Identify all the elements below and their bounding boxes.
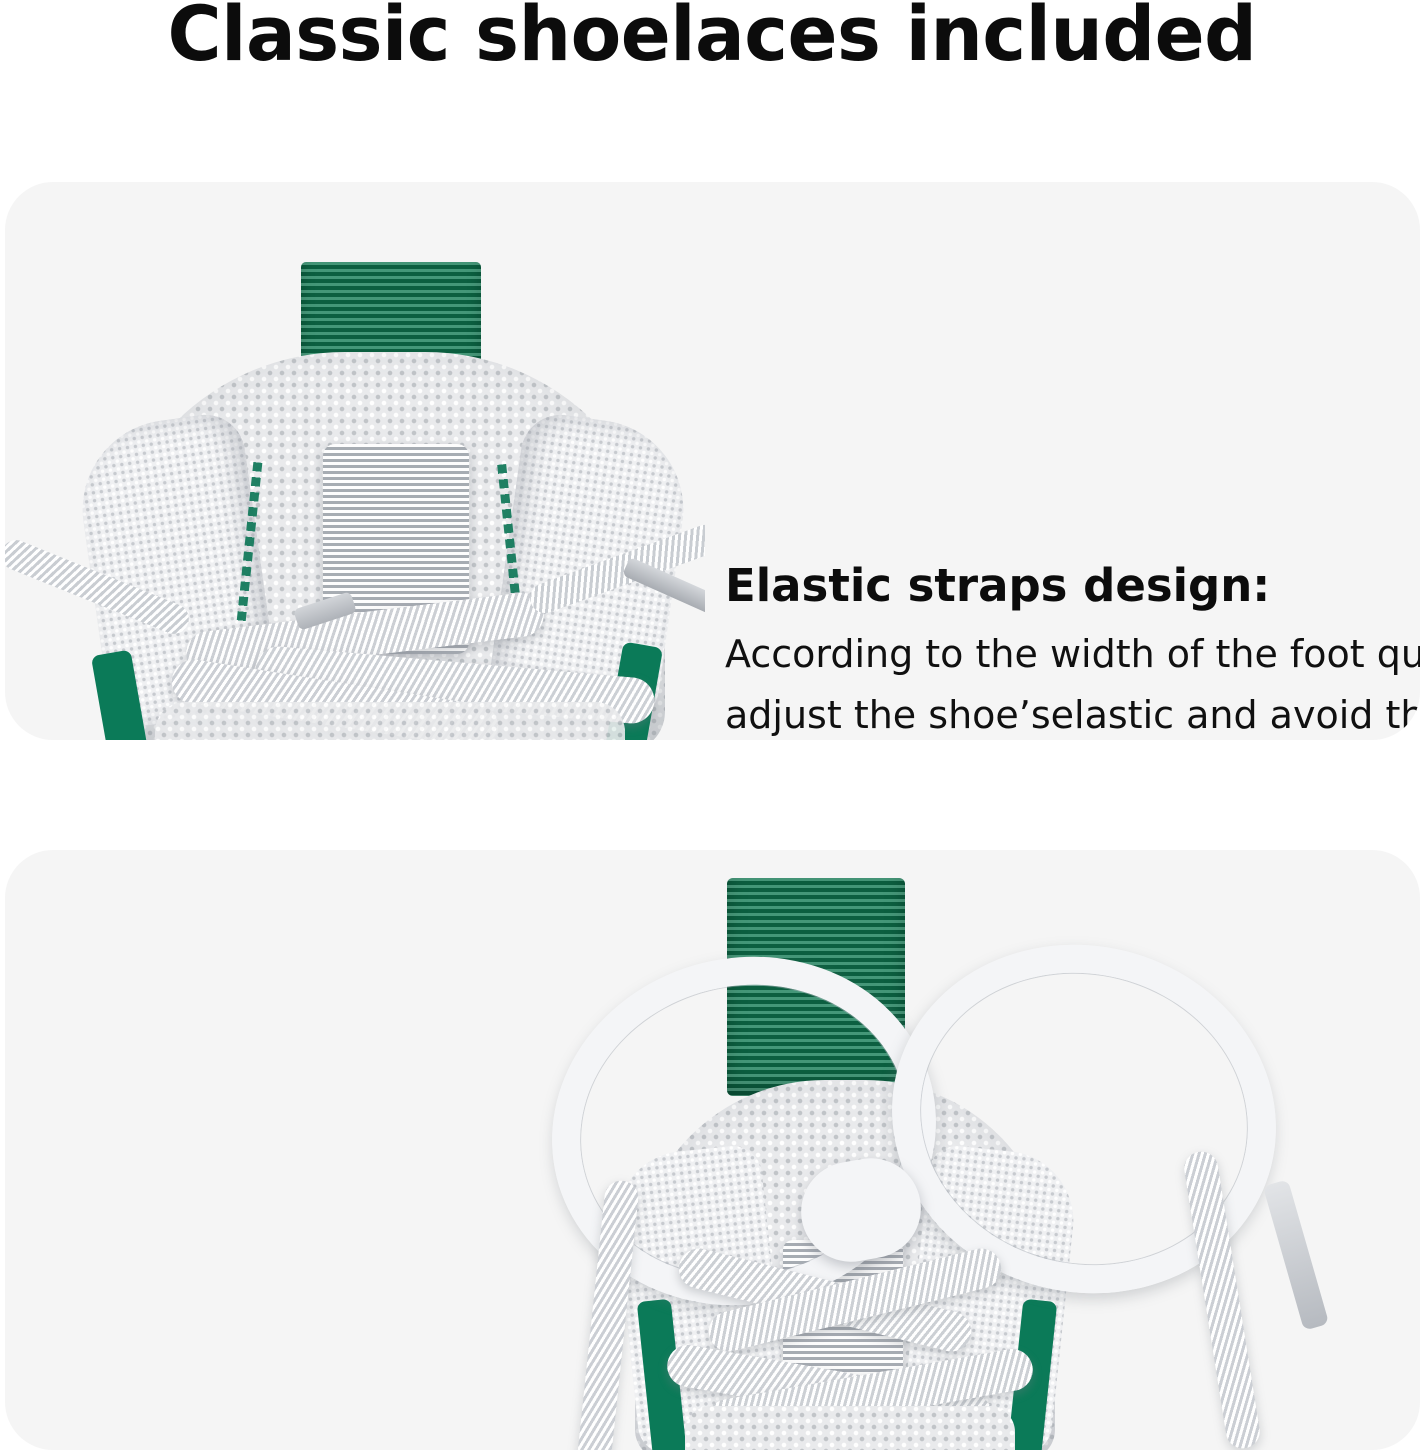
- shoe-tied-laces-illustration: [505, 850, 1420, 1450]
- feature-heading-elastic-straps: Elastic straps design:: [725, 560, 1420, 612]
- body-line: According to the width of the foot quick…: [725, 624, 1420, 686]
- lace-aglet-right: [1263, 1179, 1329, 1330]
- feature-body-elastic-straps: According to the width of the foot quick…: [725, 624, 1420, 740]
- toe-box-mesh: [685, 1406, 1015, 1450]
- feature-card-classic-lace-up: A classic lace-up design: Comes with an …: [5, 850, 1420, 1450]
- feature-card-elastic-straps: Elastic straps design: According to the …: [5, 182, 1420, 740]
- feature-text-elastic-straps: Elastic straps design: According to the …: [725, 560, 1420, 740]
- body-line: adjust the shoe’selastic and avoid the: [725, 685, 1420, 740]
- shoe-closeup-illustration: [5, 182, 705, 740]
- toe-box-mesh: [155, 702, 625, 740]
- page-title: Classic shoelaces included: [21, 0, 1402, 74]
- product-photo-elastic-straps: [5, 182, 705, 740]
- product-photo-classic-lace-up: [505, 850, 1420, 1450]
